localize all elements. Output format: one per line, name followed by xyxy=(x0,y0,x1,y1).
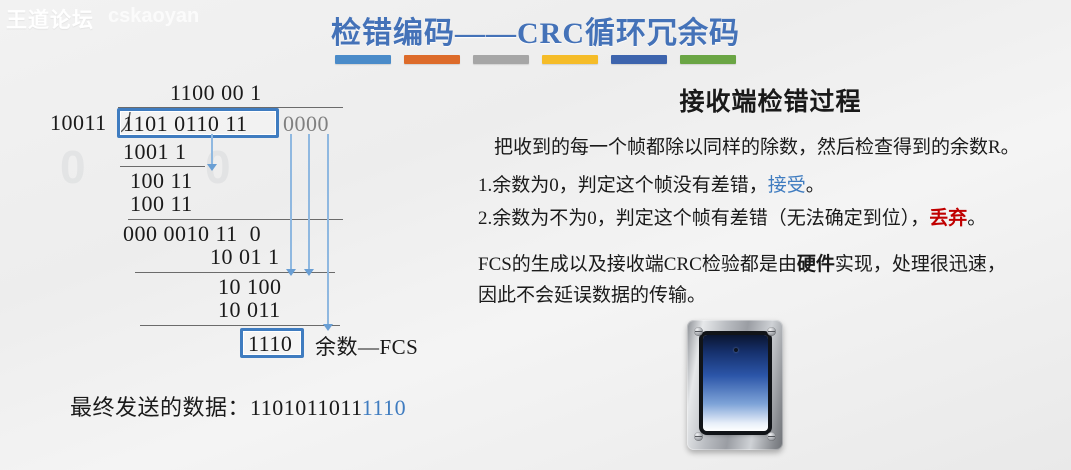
receiver-intro: 把收到的每一个帧都除以同样的除数，然后检查得到的余数R。 xyxy=(478,134,1063,162)
final-data-line: 最终发送的数据：11010110111110 xyxy=(70,390,406,422)
carry-line-3 xyxy=(308,134,310,272)
final-data-label: 最终发送的数据： xyxy=(70,395,250,420)
receiver-item-1-suffix: 。 xyxy=(806,175,825,196)
division-step-3: 100 11 xyxy=(130,191,193,217)
title-bar-yellow xyxy=(542,55,598,64)
division-remainder: 1110 xyxy=(248,331,292,357)
division-rule-1 xyxy=(120,166,205,167)
division-divisor: 10011 xyxy=(50,110,107,136)
receiver-note-a: FCS的生成以及接收端CRC检验都是由 xyxy=(478,254,797,275)
receiver-item-1-prefix: 1.余数为0，判定这个帧没有差错， xyxy=(478,175,768,196)
division-quotient: 1100 00 1 xyxy=(170,80,262,106)
device-screw-top-right xyxy=(767,327,776,336)
division-dividend: 1101 0110 11 xyxy=(123,111,248,137)
receiver-note-line-1: FCS的生成以及接收端CRC检验都是由硬件实现，处理很迅速， xyxy=(478,251,1063,279)
carry-arrow-2 xyxy=(286,269,296,276)
receiver-item-2-suffix: 。 xyxy=(967,208,986,229)
device-screw-bottom-left xyxy=(694,432,703,441)
final-data-bits-black: 1101011011 xyxy=(250,395,362,420)
remainder-fcs-label: 余数—FCS xyxy=(315,331,418,361)
receiver-heading: 接收端检错过程 xyxy=(478,82,1063,118)
title-bar-navy xyxy=(611,55,667,64)
title-bar-green xyxy=(680,55,736,64)
hardware-device-image xyxy=(687,320,783,450)
division-step-1: 1001 1 xyxy=(123,139,187,165)
slide-canvas: 王道论坛 cskaoyan 0 0 检错编码——CRC循环冗余码 1100 00… xyxy=(0,0,1071,470)
carry-line-2 xyxy=(290,134,292,272)
device-screen xyxy=(703,335,768,431)
carry-line-1 xyxy=(211,134,213,166)
device-screw-top-left xyxy=(694,327,703,336)
receiver-note-line-2: 因此不会延误数据的传输。 xyxy=(478,282,1063,310)
receiver-item-2: 2.余数为不为0，判定这个帧有差错（无法确定到位），丢弃。 xyxy=(478,205,1063,233)
crc-long-division: 1100 00 1 10011 1101 0110 11 0000 1001 1… xyxy=(40,78,460,368)
title-bar-gray xyxy=(473,55,529,64)
carry-line-4 xyxy=(327,134,329,328)
receiver-item-2-accent: 丢弃 xyxy=(929,208,967,229)
receiver-note-c: 实现，处理很迅速， xyxy=(835,254,1006,275)
receiver-item-2-prefix: 2.余数为不为0，判定这个帧有差错（无法确定到位）， xyxy=(478,208,929,229)
receiver-item-1: 1.余数为0，判定这个帧没有差错，接受。 xyxy=(478,172,1063,200)
title-bar-orange xyxy=(404,55,460,64)
carry-arrow-4 xyxy=(323,324,333,331)
receiver-panel: 接收端检错过程 把收到的每一个帧都除以同样的除数，然后检查得到的余数R。 1.余… xyxy=(478,82,1063,320)
division-step-7: 10 011 xyxy=(218,297,281,323)
title-accent-bars xyxy=(0,55,1071,64)
division-rule-2 xyxy=(128,219,343,220)
final-data-bits-fcs: 1110 xyxy=(362,395,406,420)
receiver-item-1-accent: 接受 xyxy=(768,175,806,196)
device-screw-bottom-right xyxy=(767,432,776,441)
page-title: 检错编码——CRC循环冗余码 xyxy=(0,8,1071,52)
division-step-5: 10 01 1 xyxy=(210,244,280,270)
receiver-note-hardware: 硬件 xyxy=(797,254,835,275)
division-rule-4 xyxy=(140,325,340,326)
carry-arrow-3 xyxy=(304,269,314,276)
title-bar-blue xyxy=(335,55,391,64)
carry-arrow-1 xyxy=(207,164,217,171)
device-indicator-dot xyxy=(734,348,738,352)
